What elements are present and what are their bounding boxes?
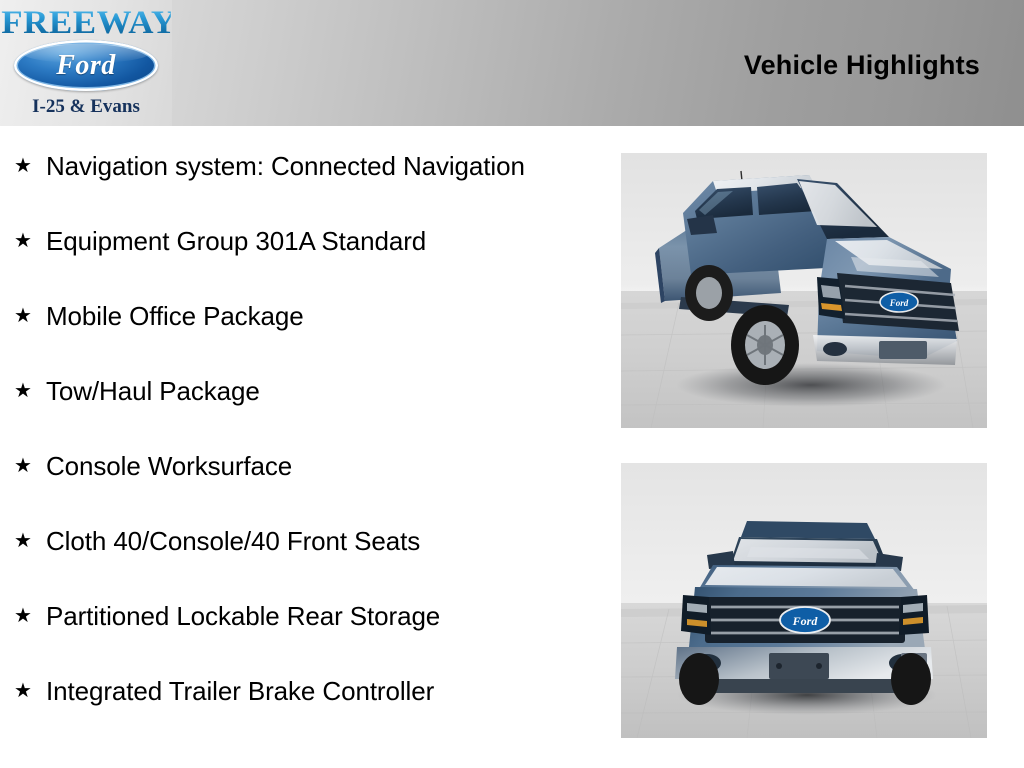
list-item-label: Tow/Haul Package — [46, 373, 608, 409]
ford-oval-logo: Ford — [14, 40, 158, 91]
ford-oval-label: Ford — [14, 40, 158, 91]
vehicle-highlights-list: ★ Navigation system: Connected Navigatio… — [12, 148, 608, 748]
list-item: ★ Equipment Group 301A Standard — [12, 223, 608, 259]
list-item-label: Partitioned Lockable Rear Storage — [46, 598, 608, 634]
svg-text:Ford: Ford — [889, 298, 909, 308]
page-title: Vehicle Highlights — [744, 50, 980, 81]
star-bullet-icon: ★ — [12, 223, 46, 259]
star-bullet-icon: ★ — [12, 598, 46, 634]
vehicle-photo-front-image: Ford — [621, 463, 987, 738]
list-item-label: Console Worksurface — [46, 448, 608, 484]
list-item: ★ Console Worksurface — [12, 448, 608, 484]
vehicle-photo-front-three-quarter-image: Ford — [621, 153, 987, 428]
list-item: ★ Cloth 40/Console/40 Front Seats — [12, 523, 608, 559]
list-item-label: Cloth 40/Console/40 Front Seats — [46, 523, 608, 559]
star-bullet-icon: ★ — [12, 298, 46, 334]
dealer-logo-wordmark: FREEWAY — [1, 5, 171, 41]
svg-text:Ford: Ford — [792, 614, 819, 628]
star-bullet-icon: ★ — [12, 448, 46, 484]
list-item: ★ Tow/Haul Package — [12, 373, 608, 409]
list-item-label: Mobile Office Package — [46, 298, 608, 334]
list-item-label: Navigation system: Connected Navigation — [46, 148, 608, 184]
star-bullet-icon: ★ — [12, 373, 46, 409]
vehicle-photo-front-three-quarter[interactable]: Ford — [621, 153, 987, 428]
star-bullet-icon: ★ — [12, 523, 46, 559]
vehicle-photo-front[interactable]: Ford — [621, 463, 987, 738]
dealer-location-tagline: I-25 & Evans — [6, 96, 166, 118]
list-item-label: Integrated Trailer Brake Controller — [46, 673, 608, 709]
list-item: ★ Partitioned Lockable Rear Storage — [12, 598, 608, 634]
page-header: FREEWAY Ford I-25 & Evans Vehicle Highli… — [0, 0, 1024, 126]
list-item: ★ Navigation system: Connected Navigatio… — [12, 148, 608, 184]
star-bullet-icon: ★ — [12, 148, 46, 184]
list-item: ★ Integrated Trailer Brake Controller — [12, 673, 608, 709]
list-item-label: Equipment Group 301A Standard — [46, 223, 608, 259]
list-item: ★ Mobile Office Package — [12, 298, 608, 334]
star-bullet-icon: ★ — [12, 673, 46, 709]
dealer-logo[interactable]: FREEWAY Ford I-25 & Evans — [0, 0, 172, 126]
